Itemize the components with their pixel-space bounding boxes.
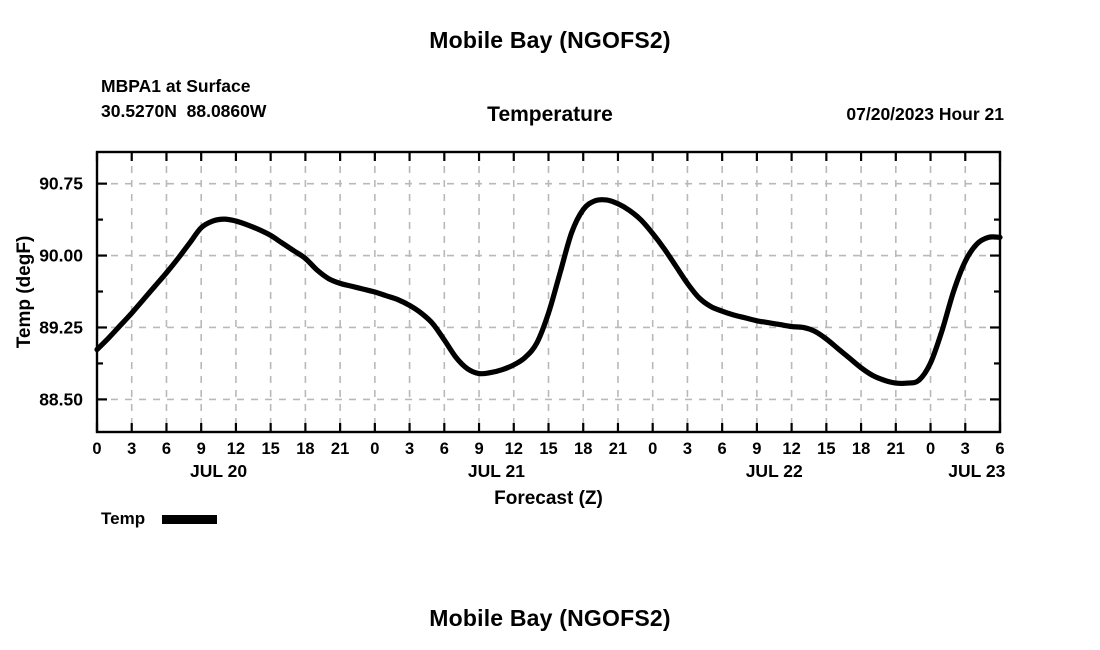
x-axis-tick-label: 15: [539, 440, 557, 458]
legend-label-temp: Temp: [101, 509, 145, 529]
x-axis-tick-label: 6: [162, 440, 171, 458]
x-axis-day-label: JUL 22: [746, 461, 803, 481]
x-axis-tick-label: 18: [574, 440, 592, 458]
y-axis-tick-label: 90.75: [39, 174, 83, 194]
x-axis-tick-label: 9: [474, 440, 483, 458]
x-axis-tick-label: 0: [926, 440, 935, 458]
x-axis-tick-label: 3: [683, 440, 692, 458]
x-axis-tick-label: 3: [405, 440, 414, 458]
x-axis-tick-label: 21: [331, 440, 349, 458]
x-axis-tick-label: 12: [505, 440, 523, 458]
legend-swatch-temp: [162, 515, 217, 524]
x-axis-tick-label: 9: [752, 440, 761, 458]
x-axis-tick-label: 18: [852, 440, 870, 458]
x-axis-tick-label: 12: [782, 440, 800, 458]
x-axis-title: Forecast (Z): [494, 488, 603, 509]
y-axis-title: Temp (degF): [14, 236, 35, 349]
x-axis-tick-label: 0: [92, 440, 101, 458]
x-axis-tick-label: 18: [296, 440, 314, 458]
y-axis-tick-label: 88.50: [39, 389, 83, 409]
x-axis-tick-label: 6: [718, 440, 727, 458]
x-axis-tick-label: 0: [648, 440, 657, 458]
y-axis-tick-label: 89.25: [39, 317, 83, 337]
x-axis-day-label: JUL 20: [190, 461, 247, 481]
chart-page: Mobile Bay (NGOFS2) MBPA1 at Surface 30.…: [0, 0, 1100, 650]
x-axis-tick-label: 15: [261, 440, 279, 458]
temperature-line-chart: 88.5089.2590.0090.75Temp (degF)036912151…: [0, 0, 1100, 560]
x-axis-tick-label: 3: [961, 440, 970, 458]
x-axis-tick-label: 21: [887, 440, 905, 458]
chart-area: 88.5089.2590.0090.75Temp (degF)036912151…: [0, 0, 1100, 560]
x-axis-tick-label: 21: [609, 440, 627, 458]
page-title-bottom: Mobile Bay (NGOFS2): [0, 605, 1100, 632]
x-axis-tick-label: 6: [440, 440, 449, 458]
x-axis-tick-label: 12: [227, 440, 245, 458]
x-axis-day-label: JUL 23: [948, 461, 1005, 481]
y-axis-tick-label: 90.00: [39, 246, 83, 266]
x-axis-day-label: JUL 21: [468, 461, 525, 481]
x-axis-tick-label: 3: [127, 440, 136, 458]
x-axis-tick-label: 6: [995, 440, 1004, 458]
x-axis-tick-label: 15: [817, 440, 835, 458]
x-axis-tick-label: 9: [197, 440, 206, 458]
x-axis-tick-label: 0: [370, 440, 379, 458]
